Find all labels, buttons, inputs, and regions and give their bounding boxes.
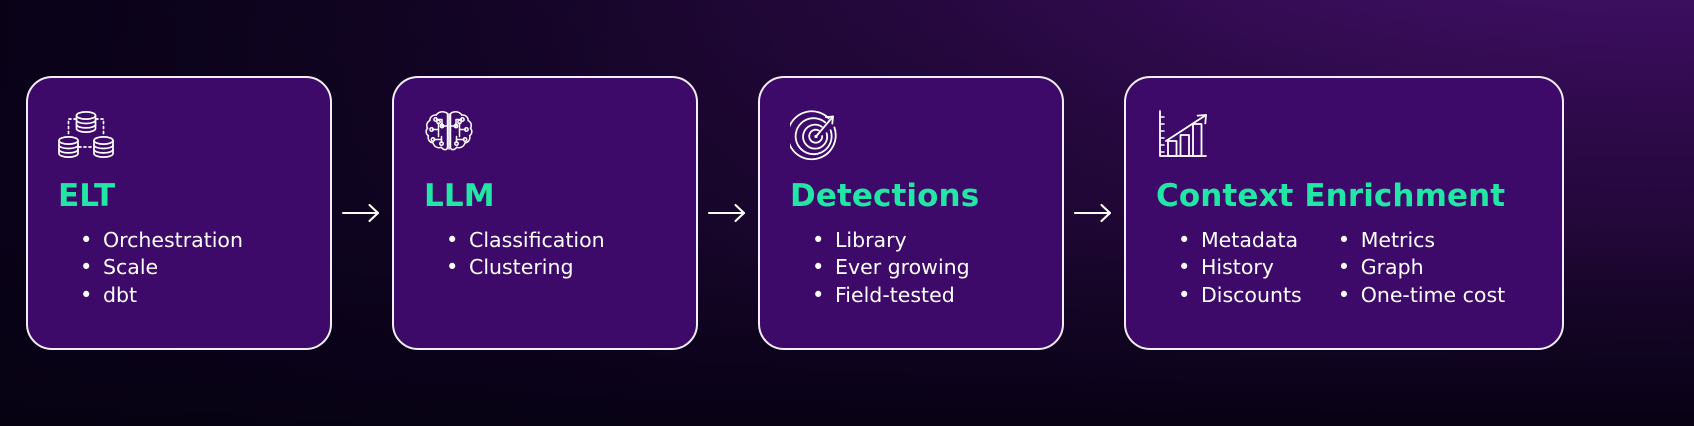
pipeline-step-llm[interactable]: LLM Classification Clustering [392,76,698,350]
arrow-llm-to-detections-icon [698,193,758,233]
bullet-column: Library Ever growing Field-tested [812,227,970,311]
bullets-area-llm: Classification Clustering [424,227,672,283]
card-title-detections: Detections [790,180,1038,213]
bullet-column: Metadata History Discounts [1178,227,1302,311]
arrow-elt-to-llm-icon [332,193,392,233]
pipeline-step-detections[interactable]: Detections Library Ever growing Field-te… [758,76,1064,350]
bullets-area-elt: Orchestration Scale dbt [58,227,306,311]
bar-chart-growth-icon [1156,106,1216,164]
bullets-area-detections: Library Ever growing Field-tested [790,227,1038,311]
list-item: dbt [80,282,243,310]
list-item: One-time cost [1338,282,1506,310]
bullet-column: Orchestration Scale dbt [80,227,243,311]
card-title-llm: LLM [424,180,672,213]
list-item: History [1178,254,1302,282]
pipeline-step-elt[interactable]: ELT Orchestration Scale dbt [26,76,332,350]
bullet-column: Metrics Graph One-time cost [1338,227,1506,311]
list-item: Metrics [1338,227,1506,255]
list-item: Graph [1338,254,1506,282]
list-item: Library [812,227,970,255]
list-item: Orchestration [80,227,243,255]
pipeline-flow: ELT Orchestration Scale dbt [0,0,1694,426]
list-item: Classification [446,227,605,255]
bullet-column: Classification Clustering [446,227,605,283]
arrow-detections-to-context-icon [1064,193,1124,233]
radar-target-icon [790,106,850,164]
list-item: Metadata [1178,227,1302,255]
list-item: Discounts [1178,282,1302,310]
list-item: Ever growing [812,254,970,282]
list-item: Scale [80,254,243,282]
bullets-area-context-enrichment: Metadata History Discounts Metrics Graph… [1156,227,1538,311]
database-stack-icon [58,106,118,164]
list-item: Field-tested [812,282,970,310]
card-title-context-enrichment: Context Enrichment [1156,180,1538,213]
brain-circuit-icon [424,106,484,164]
list-item: Clustering [446,254,605,282]
card-title-elt: ELT [58,180,306,213]
pipeline-step-context-enrichment[interactable]: Context Enrichment Metadata History Disc… [1124,76,1564,350]
